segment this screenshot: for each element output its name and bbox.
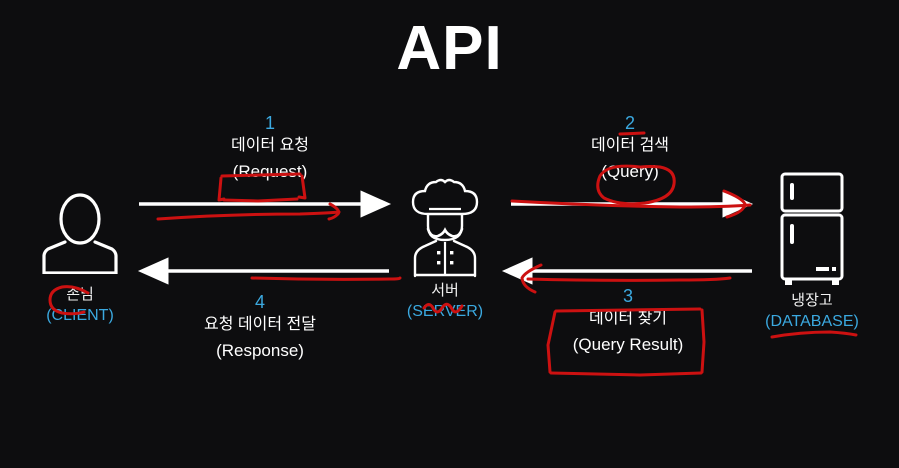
step-2-text-group: 2 데이터 검색 (Query) xyxy=(530,114,730,185)
step-1-label-en: (Request) xyxy=(233,158,308,185)
step-4-label-kr: 요청 데이터 전달 xyxy=(160,313,360,337)
person-icon xyxy=(0,182,160,282)
step-1-text-group: 1 데이터 요청 (Request) xyxy=(170,114,370,185)
step-2-label-kr: 데이터 검색 xyxy=(530,134,730,158)
node-database-label-kr: 냉장고 xyxy=(732,292,892,310)
refrigerator-icon xyxy=(732,170,892,288)
node-database: 냉장고 (DATABASE) xyxy=(732,170,892,333)
diagram-canvas: API xyxy=(0,0,899,468)
node-database-label-en: (DATABASE) xyxy=(732,312,892,333)
node-client-label-kr: 손님 xyxy=(0,286,160,304)
step-4-number: 4 xyxy=(160,293,360,313)
chef-icon xyxy=(365,178,525,278)
step-1-number: 1 xyxy=(170,114,370,134)
node-server: 서버 (SERVER) xyxy=(365,178,525,323)
step-2-label-en: (Query) xyxy=(601,158,659,185)
step-3-text-group: 3 데이터 찾기 (Query Result) xyxy=(528,287,728,358)
step-4-text-group: 4 요청 데이터 전달 (Response) xyxy=(160,293,360,364)
node-server-label-kr: 서버 xyxy=(365,282,525,300)
node-client-label-en: (CLIENT) xyxy=(0,306,160,327)
step-3-number: 3 xyxy=(528,287,728,307)
node-client: 손님 (CLIENT) xyxy=(0,182,160,327)
step-1-label-kr: 데이터 요청 xyxy=(170,134,370,158)
step-3-label-en: (Query Result) xyxy=(573,331,684,358)
step-3-label-kr: 데이터 찾기 xyxy=(528,307,728,331)
step-2-number: 2 xyxy=(530,114,730,134)
step-4-label-en: (Response) xyxy=(216,337,304,364)
node-server-label-en: (SERVER) xyxy=(365,302,525,323)
